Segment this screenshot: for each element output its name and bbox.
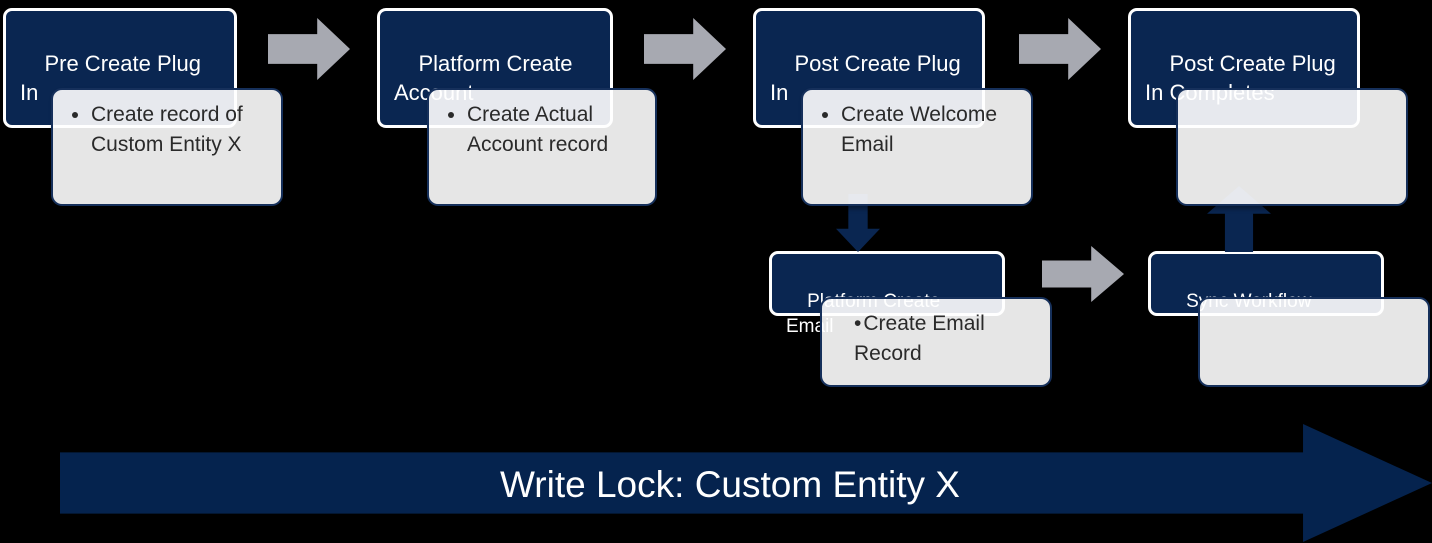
card-post-create-plug-in-list: Create Welcome Email [819, 100, 1021, 160]
card-sync-workflow[interactable] [1198, 297, 1430, 387]
card-platform-create-account-list: Create Actual Account record [445, 100, 645, 160]
card-pre-create-plug-in-list: Create record of Custom Entity X [69, 100, 271, 160]
bullet-create-welcome-email: Create Welcome Email [841, 100, 1021, 160]
bullet-create-record-custom-entity: Create record of Custom Entity X [91, 100, 271, 160]
card-post-create-plug-in-completes[interactable] [1176, 88, 1408, 206]
grey-arrow-right-icon-2 [644, 18, 726, 80]
card-platform-create-email[interactable]: Create Email Record [820, 297, 1052, 387]
write-lock-banner-label: Write Lock: Custom Entity X [60, 464, 1400, 506]
bullet-create-actual-account-record: Create Actual Account record [467, 100, 645, 160]
card-pre-create-plug-in[interactable]: Create record of Custom Entity X [51, 88, 283, 206]
card-platform-create-email-list: Create Email Record [842, 309, 1040, 369]
card-platform-create-account[interactable]: Create Actual Account record [427, 88, 657, 206]
bullet-create-email-record: Create Email Record [854, 309, 1040, 369]
diagram-canvas: Pre Create Plug In Create record of Cust… [0, 0, 1432, 543]
grey-arrow-right-icon-3 [1019, 18, 1101, 80]
grey-arrow-right-icon-4 [1042, 246, 1124, 302]
grey-arrow-right-icon-1 [268, 18, 350, 80]
card-post-create-plug-in[interactable]: Create Welcome Email [801, 88, 1033, 206]
